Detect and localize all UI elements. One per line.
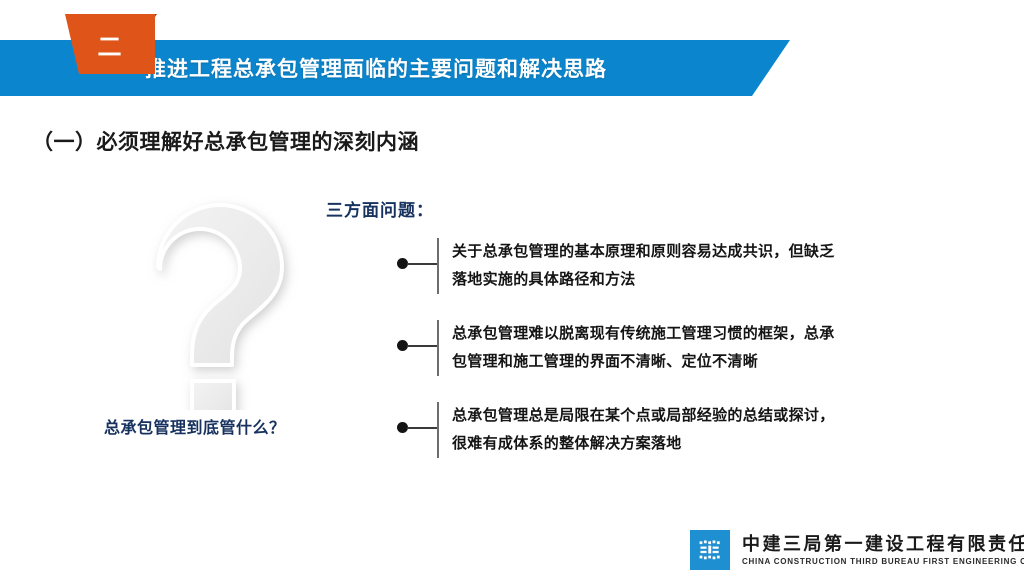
list-item: 关于总承包管理的基本原理和原则容易达成共识，但缺乏 落地实施的具体路径和方法 [396,238,916,294]
bullet-connector-line [407,427,437,429]
list-item-line2: 很难有成体系的整体解决方案落地 [452,430,916,458]
bullet-connector-line [407,345,437,347]
question-mark-caption: 总承包管理到底管什么？ [104,414,286,438]
bullet-connector-line [407,263,437,265]
footer-text-block: 中建三局第一建设工程有限责任公司 CHINA CONSTRUCTION THIR… [742,533,1024,568]
list-item-text: 总承包管理总是局限在某个点或局部经验的总结或探讨， 很难有成体系的整体解决方案落… [444,402,916,458]
bullet-vertical-bar [437,238,439,294]
list-item: 总承包管理总是局限在某个点或局部经验的总结或探讨， 很难有成体系的整体解决方案落… [396,402,916,458]
company-logo-icon [690,530,730,570]
slide-header: 推进工程总承包管理面临的主要问题和解决思路 二 [0,14,1024,102]
three-issues-label: 三方面问题： [326,196,434,221]
bullet-marker [396,402,444,458]
company-name-en: CHINA CONSTRUCTION THIRD BUREAU FIRST EN… [742,556,1024,568]
company-name-cn: 中建三局第一建设工程有限责任公司 [742,533,1024,555]
list-item-line1: 总承包管理难以脱离现有传统施工管理习惯的框架，总承 [452,325,835,342]
list-item-line2: 落地实施的具体路径和方法 [452,266,916,294]
section-heading: （一）必须理解好总承包管理的深刻内涵 [32,126,419,156]
list-item-text: 关于总承包管理的基本原理和原则容易达成共识，但缺乏 落地实施的具体路径和方法 [444,238,916,294]
list-item-line1: 总承包管理总是局限在某个点或局部经验的总结或探讨， [452,407,835,424]
bullet-vertical-bar [437,320,439,376]
list-item-line2: 包管理和施工管理的界面不清晰、定位不清晰 [452,348,916,376]
slide-canvas: 推进工程总承包管理面临的主要问题和解决思路 二 （一）必须理解好总承包管理的深刻… [0,0,1024,576]
footer-branding: 中建三局第一建设工程有限责任公司 CHINA CONSTRUCTION THIR… [690,530,1024,570]
question-mark-icon [130,195,330,410]
bullet-marker [396,238,444,294]
list-item-line1: 关于总承包管理的基本原理和原则容易达成共识，但缺乏 [452,243,835,260]
issues-list: 关于总承包管理的基本原理和原则容易达成共识，但缺乏 落地实施的具体路径和方法 总… [396,238,916,458]
section-number-label: 二 [57,14,155,74]
bullet-marker [396,320,444,376]
bullet-vertical-bar [437,402,439,458]
list-item-text: 总承包管理难以脱离现有传统施工管理习惯的框架，总承 包管理和施工管理的界面不清晰… [444,320,916,376]
list-item: 总承包管理难以脱离现有传统施工管理习惯的框架，总承 包管理和施工管理的界面不清晰… [396,320,916,376]
